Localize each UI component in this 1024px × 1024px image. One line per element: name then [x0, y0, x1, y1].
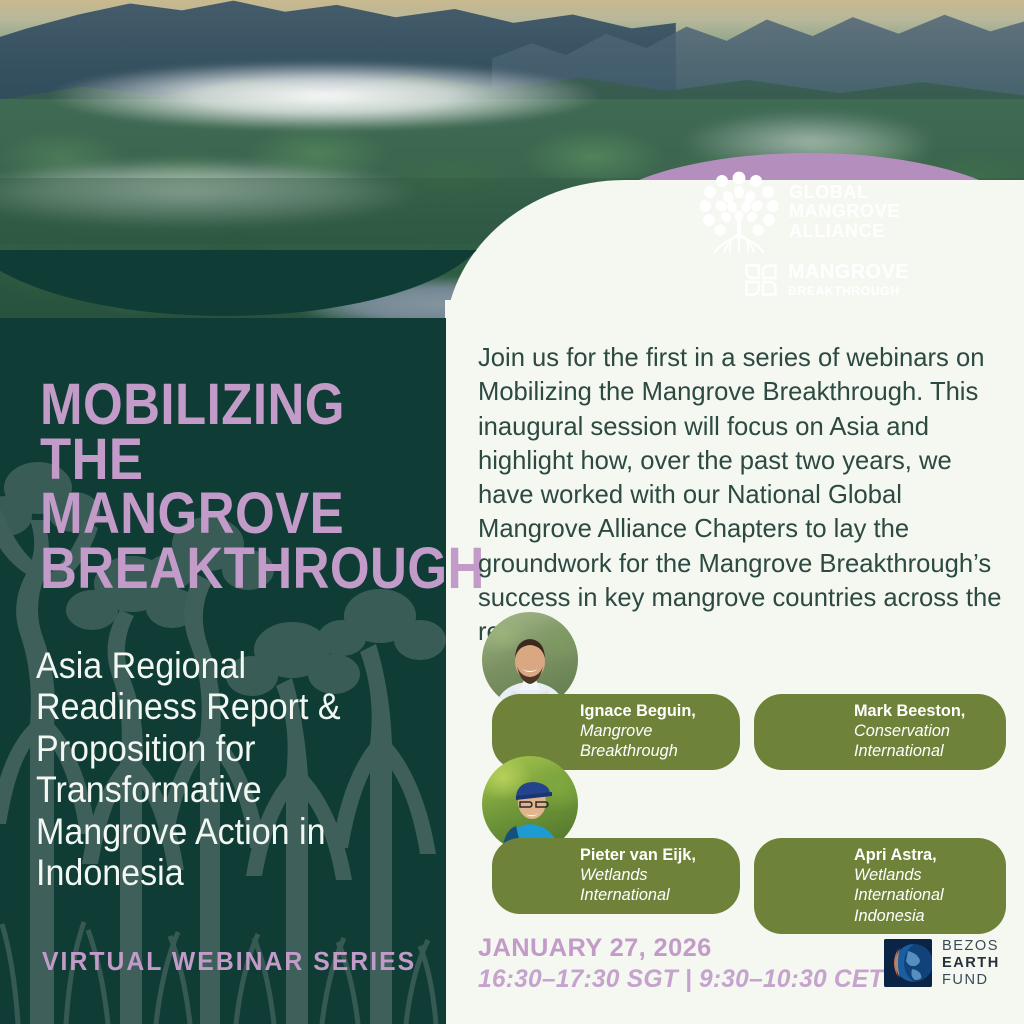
speaker-card: Ignace Beguin, Mangrove Breakthrough: [470, 612, 740, 752]
speaker-org: Wetlands International: [580, 865, 722, 905]
speaker-name: Pieter van Eijk,: [580, 845, 722, 865]
mbt-wordmark: MANGROVE BREAKTHROUGH: [788, 262, 909, 299]
gma-line-1: GLOBAL: [789, 183, 900, 202]
speaker-card: Mark Beeston, Conservation International: [742, 612, 1012, 752]
bezos-line-1: BEZOS: [942, 938, 1000, 955]
gma-wordmark: GLOBAL MANGROVE ALLIANCE: [789, 183, 900, 241]
speaker-name-pill: Pieter van Eijk, Wetlands International: [492, 838, 740, 914]
page-subtitle: Asia Regional Readiness Report & Proposi…: [36, 645, 413, 894]
page-title: MOBILIZING THE MANGROVE BREAKTHROUGH: [40, 378, 392, 596]
four-leaf-quadrant-icon: [744, 263, 778, 297]
earth-globe-icon: [884, 939, 932, 987]
description-text: Join us for the first in a series of web…: [478, 341, 1006, 650]
gma-line-3: ALLIANCE: [789, 222, 900, 241]
bezos-wordmark: BEZOS EARTH FUND: [942, 938, 1000, 989]
gma-line-2: MANGROVE: [789, 202, 900, 221]
mangrove-breakthrough-logo: MANGROVE BREAKTHROUGH: [744, 262, 909, 299]
event-datetime: JANUARY 27, 2026 16:30–17:30 SGT | 9:30–…: [478, 934, 884, 994]
bezos-line-3: FUND: [942, 972, 1000, 989]
mangrove-tree-circle-icon: [700, 170, 778, 254]
logo-lockup: GLOBAL MANGROVE ALLIANCE MANGROVE BREAKT…: [700, 170, 950, 300]
speaker-name: Mark Beeston,: [854, 701, 988, 721]
event-date: JANUARY 27, 2026: [478, 934, 884, 963]
event-time: 16:30–17:30 SGT | 9:30–10:30 CET: [478, 966, 884, 994]
webinar-poster: GLOBAL MANGROVE ALLIANCE MANGROVE BREAKT…: [0, 0, 1024, 1024]
speaker-name: Apri Astra,: [854, 846, 937, 864]
mbt-line-1: MANGROVE: [788, 262, 909, 282]
speaker-name-pill: Apri Astra, Wetlands International Indon…: [754, 838, 1006, 934]
speaker-name-inline: Apri Astra, Wetlands International Indon…: [854, 845, 988, 926]
speaker-name: Ignace Beguin,: [580, 701, 722, 721]
speaker-org: Wetlands International Indonesia: [854, 866, 944, 924]
mbt-line-2: BREAKTHROUGH: [788, 284, 909, 299]
bezos-earth-fund-logo: BEZOS EARTH FUND: [884, 938, 1000, 989]
speaker-card: Pieter van Eijk, Wetlands International: [470, 756, 740, 896]
mangrove-silhouette-watermark: [0, 250, 446, 1024]
series-label: VIRTUAL WEBINAR SERIES: [42, 948, 416, 977]
global-mangrove-alliance-logo: GLOBAL MANGROVE ALLIANCE: [700, 170, 900, 254]
speaker-card: Apri Astra, Wetlands International Indon…: [752, 756, 1022, 896]
bezos-line-2: EARTH: [942, 955, 1000, 972]
hero-cloud-mist: [20, 53, 696, 139]
speaker-list: Ignace Beguin, Mangrove Breakthrough Mar…: [470, 612, 1015, 902]
